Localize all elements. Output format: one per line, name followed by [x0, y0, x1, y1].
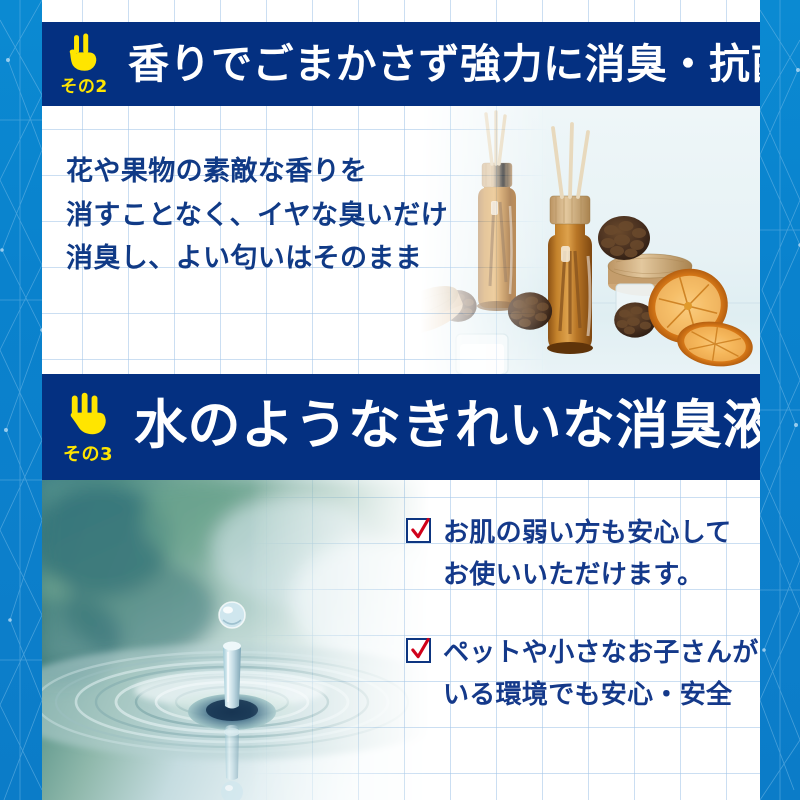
check-item-text: ペットや小さなお子さんが いる環境でも安心・安全 [443, 632, 759, 716]
headline-band-section-three: その3 水のようなきれいな消臭液 [42, 374, 760, 480]
section-three-body: お肌の弱い方も安心して お使いいただけます。 ペットや小さなお子さんが いる環境… [42, 480, 760, 800]
badge-label-sono-3: その3 [63, 446, 113, 464]
reed-diffuser-illustration-icon [420, 106, 760, 374]
check-2-line-2: いる環境でも安心・安全 [443, 674, 759, 716]
three-finger-hand-icon [61, 391, 115, 445]
copy-line-3: 消臭し、よい匂いはそのまま [66, 237, 448, 281]
network-pattern-left-icon [0, 0, 42, 800]
check-1-line-1: お肌の弱い方も安心して [443, 512, 732, 554]
headline-text-section-two: 香りでごまかさず強力に消臭・抗菌 [128, 44, 760, 85]
water-droplet-illustration-icon [42, 480, 442, 800]
section-two-body: 花や果物の素敵な香りを 消すことなく、イヤな臭いだけ 消臭し、よい匂いはそのまま [42, 106, 760, 374]
decorative-blue-border-left [0, 0, 42, 800]
checkmark-glyph-icon [409, 636, 432, 664]
headline-text-section-three: 水のようなきれいな消臭液 [134, 399, 760, 452]
section-two-copy: 花や果物の素敵な香りを 消すことなく、イヤな臭いだけ 消臭し、よい匂いはそのまま [66, 150, 448, 281]
network-pattern-right-icon [760, 0, 800, 800]
list-item: お肌の弱い方も安心して お使いいただけます。 [406, 512, 752, 596]
content-column: その2 香りでごまかさず強力に消臭・抗菌 [42, 0, 760, 800]
peace-sign-hand-icon [61, 32, 107, 78]
check-item-text: お肌の弱い方も安心して お使いいただけます。 [443, 512, 732, 596]
badge-sono-2: その2 [42, 22, 126, 106]
badge-label-sono-2: その2 [60, 79, 107, 96]
advertisement-page: その2 香りでごまかさず強力に消臭・抗菌 [0, 0, 800, 800]
check-1-line-2: お使いいただけます。 [443, 554, 732, 596]
water-droplet-photo [42, 480, 442, 800]
reed-diffuser-photo [420, 106, 760, 374]
list-item: ペットや小さなお子さんが いる環境でも安心・安全 [406, 632, 752, 716]
red-checkmark-icon [406, 518, 431, 543]
copy-line-2: 消すことなく、イヤな臭いだけ [66, 194, 448, 238]
check-2-line-1: ペットや小さなお子さんが [443, 632, 759, 674]
headline-band-section-two: その2 香りでごまかさず強力に消臭・抗菌 [42, 22, 760, 106]
checkmark-glyph-icon [409, 516, 432, 544]
copy-line-1: 花や果物の素敵な香りを [66, 150, 448, 194]
red-checkmark-icon [406, 638, 431, 663]
benefit-check-list: お肌の弱い方も安心して お使いいただけます。 ペットや小さなお子さんが いる環境… [406, 512, 752, 752]
decorative-blue-border-right [760, 0, 800, 800]
badge-sono-3: その3 [42, 374, 134, 480]
